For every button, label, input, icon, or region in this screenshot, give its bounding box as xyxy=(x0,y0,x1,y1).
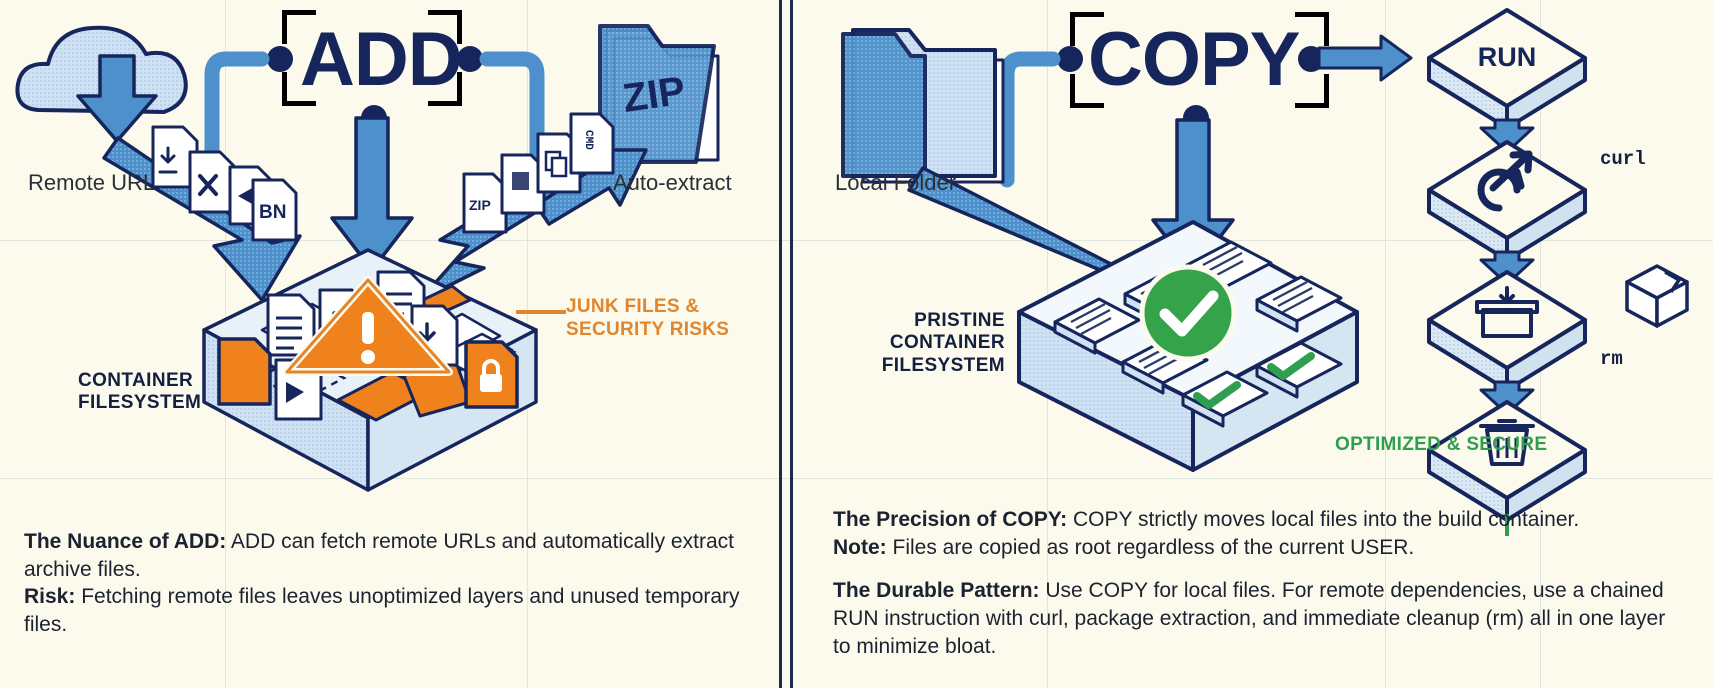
rm-side-label: rm xyxy=(1600,348,1623,370)
run-chain-diagram: RUN xyxy=(1365,0,1713,470)
local-folder-label: Local Folder xyxy=(835,170,956,196)
copy-note-1: Note: Files are copied as root regardles… xyxy=(833,534,1685,562)
curl-arrow-icon xyxy=(1429,142,1585,260)
container-filesystem-line1: CONTAINER xyxy=(78,370,201,392)
add-panel: ADD xyxy=(0,0,768,688)
copy-panel: COPY xyxy=(805,0,1713,688)
copy-note-1-lead: Note: xyxy=(833,536,887,559)
pristine-filesystem-line3: FILESYSTEM xyxy=(805,355,1005,377)
copy-note-0-text: COPY strictly moves local files into the… xyxy=(1067,508,1579,531)
add-note-0: The Nuance of ADD: ADD can fetch remote … xyxy=(24,528,750,583)
tools-file-icon xyxy=(190,152,234,212)
pristine-filesystem-label: PRISTINE CONTAINER FILESYSTEM xyxy=(805,310,1005,377)
panel-divider-left xyxy=(779,0,782,688)
copy-note-1-text: Files are copied as root regardless of t… xyxy=(887,536,1415,559)
curl-side-label: curl xyxy=(1600,148,1646,170)
zip-file-icon: ZIP xyxy=(464,174,506,232)
local-folder-icon xyxy=(843,30,1003,182)
add-note-1-lead: Risk: xyxy=(24,585,75,608)
auto-extract-label: Auto-extract xyxy=(613,170,732,196)
junk-files-callout: JUNK FILES & SECURITY RISKS xyxy=(566,296,729,342)
package-box-icon xyxy=(1627,266,1687,326)
copy-note-2-lead: The Durable Pattern: xyxy=(833,579,1040,602)
package-open-icon xyxy=(1429,272,1585,390)
pristine-filesystem-line2: CONTAINER xyxy=(805,332,1005,354)
junk-file-left-icon xyxy=(219,339,270,404)
add-note-0-lead: The Nuance of ADD: xyxy=(24,530,226,553)
container-filesystem-label: CONTAINER FILESYSTEM xyxy=(78,370,201,415)
infographic-canvas: ADD xyxy=(0,0,1713,688)
trash-icon xyxy=(1429,402,1585,520)
add-file-icons: BN ZIP CMD xyxy=(0,0,768,520)
run-node-label: RUN xyxy=(1478,42,1537,72)
panel-divider-right xyxy=(790,0,793,688)
junk-files-callout-line1: JUNK FILES & xyxy=(566,296,729,319)
container-filesystem-line2: FILESYSTEM xyxy=(78,392,201,414)
pristine-filesystem-line1: PRISTINE xyxy=(805,310,1005,332)
junk-files-callout-line2: SECURITY RISKS xyxy=(566,319,729,342)
add-note-1-text: Fetching remote files leaves unoptimized… xyxy=(24,585,740,636)
lock-file-icon xyxy=(466,342,517,407)
script-file-icon: CMD xyxy=(571,114,613,173)
copy-note-2: The Durable Pattern: Use COPY for local … xyxy=(833,577,1685,660)
copy-note-0-lead: The Precision of COPY: xyxy=(833,508,1067,531)
svg-text:BN: BN xyxy=(259,202,286,223)
green-check-icon xyxy=(1142,267,1234,359)
add-note-1: Risk: Fetching remote files leaves unopt… xyxy=(24,583,750,638)
binary-file-icon: BN xyxy=(253,180,296,240)
copy-notes: The Precision of COPY: COPY strictly mov… xyxy=(833,506,1685,661)
copy-note-0: The Precision of COPY: COPY strictly mov… xyxy=(833,506,1685,534)
remote-url-label: Remote URL xyxy=(28,170,155,196)
run-node-icon: RUN xyxy=(1429,10,1585,128)
optimized-secure-label: OPTIMIZED & SECURE xyxy=(1335,434,1547,456)
svg-text:ZIP: ZIP xyxy=(469,197,491,213)
add-notes: The Nuance of ADD: ADD can fetch remote … xyxy=(24,528,750,639)
svg-text:CMD: CMD xyxy=(582,130,594,150)
